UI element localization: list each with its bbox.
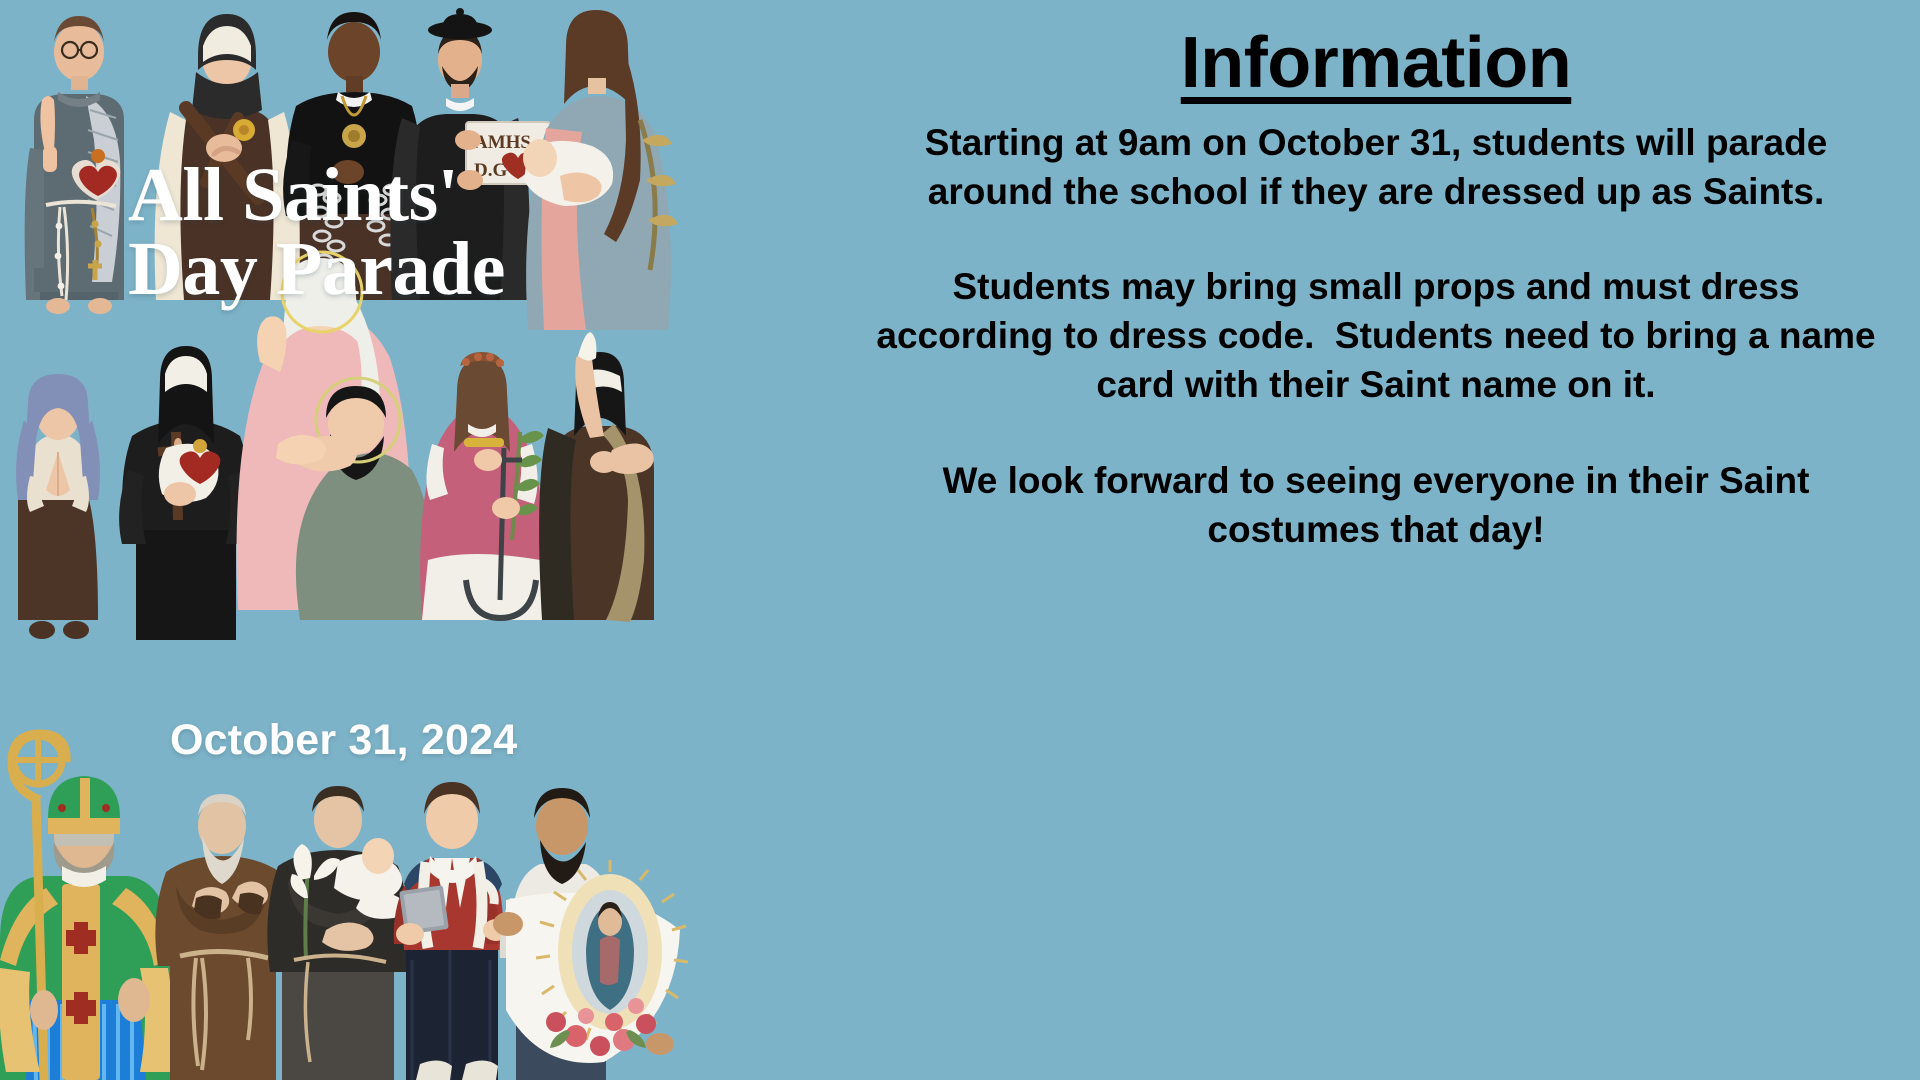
poster-date: October 31, 2024 bbox=[170, 716, 517, 765]
slide-root: AMHS D.G bbox=[0, 0, 1920, 1080]
svg-text:AMHS: AMHS bbox=[474, 132, 531, 153]
info-paragraph-2: Students may bring small props and must … bbox=[876, 262, 1876, 410]
poster-title-line1: All Saints' bbox=[128, 153, 458, 237]
info-paragraph-3: We look forward to seeing everyone in th… bbox=[876, 456, 1876, 554]
information-panel: Information Starting at 9am on October 3… bbox=[832, 0, 1920, 1080]
poster-title-line2: Day Parade bbox=[128, 227, 505, 311]
all-saints-poster: AMHS D.G bbox=[0, 0, 832, 1080]
info-paragraph-1: Starting at 9am on October 31, students … bbox=[876, 118, 1876, 216]
saint-figure-bernadette bbox=[16, 374, 100, 639]
poster-title: All Saints'Day Parade bbox=[128, 158, 768, 307]
information-heading: Information bbox=[1181, 26, 1571, 102]
